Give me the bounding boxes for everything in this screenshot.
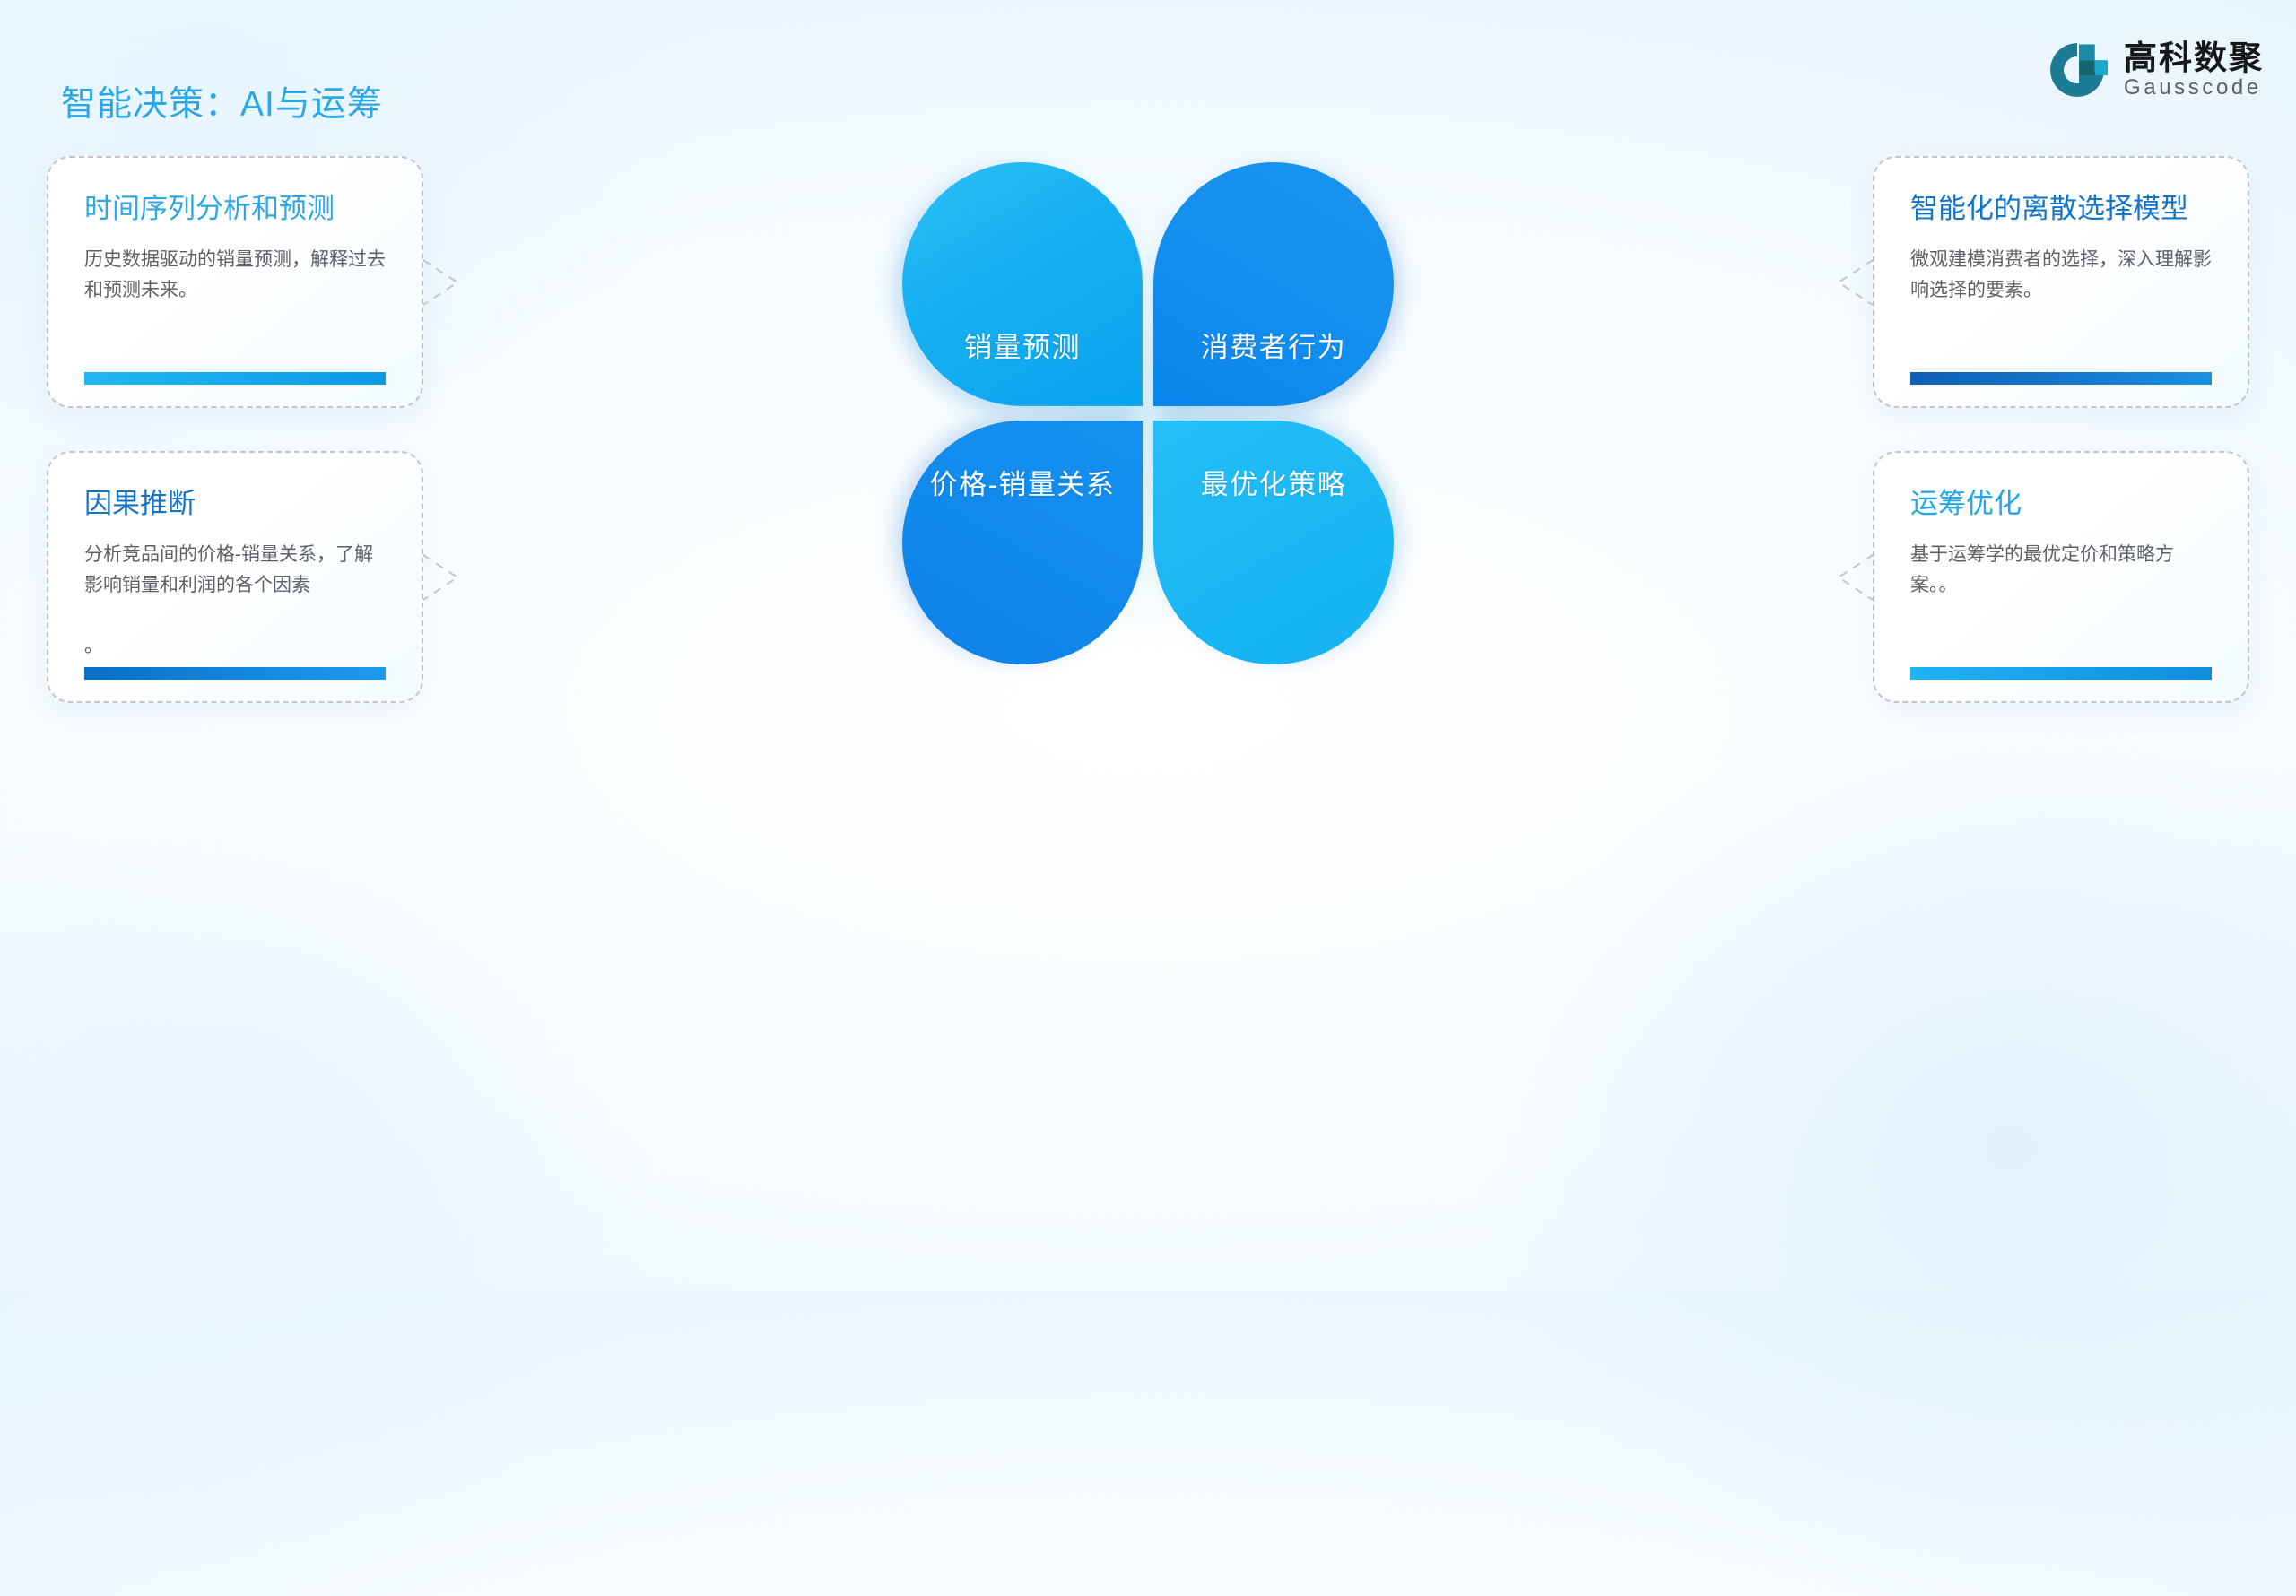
gausscode-g-logo-icon (2047, 39, 2108, 100)
logo-text-en: Gausscode (2124, 77, 2264, 99)
petal-consumer-behavior[interactable]: 消费者行为 (1153, 162, 1394, 406)
brand-logo: 高科数聚 Gausscode (2047, 39, 2264, 100)
flower-glow (834, 91, 1462, 736)
connector-chevron-card4-icon (1839, 555, 1873, 600)
petal-label: 销量预测 (902, 325, 1143, 365)
logo-text-cn: 高科数聚 (2124, 41, 2264, 76)
card-title: 智能化的离散选择模型 (1910, 192, 2188, 225)
background-glow-bottom-left (0, 789, 664, 1578)
card-accent-bar (1910, 372, 2212, 385)
card-time-series[interactable]: 时间序列分析和预测 历史数据驱动的销量预测，解释过去和预测未来。 (47, 156, 423, 408)
card-surface: 时间序列分析和预测 历史数据驱动的销量预测，解释过去和预测未来。 (50, 160, 420, 404)
card-surface: 因果推断 分析竞品间的价格-销量关系，了解影响销量和利润的各个因素 。 (50, 455, 420, 699)
page-title: 智能决策：AI与运筹 (61, 87, 383, 122)
card-operations-optimization[interactable]: 运筹优化 基于运筹学的最优定价和策略方案。。 (1873, 451, 2249, 703)
connector-chevron-card1-icon (423, 260, 457, 305)
card-title: 因果推断 (84, 487, 196, 520)
petal-label: 最优化策略 (1153, 462, 1394, 502)
card-surface: 智能化的离散选择模型 微观建模消费者的选择，深入理解影响选择的要素。 (1876, 160, 2246, 404)
card-body: 微观建模消费者的选择，深入理解影响选择的要素。 (1910, 245, 2217, 306)
card-accent-bar (84, 667, 386, 680)
card-discrete-choice[interactable]: 智能化的离散选择模型 微观建模消费者的选择，深入理解影响选择的要素。 (1873, 156, 2249, 408)
card-title: 时间序列分析和预测 (84, 192, 335, 225)
connector-chevron-card2-icon (1839, 260, 1873, 305)
card-body: 分析竞品间的价格-销量关系，了解影响销量和利润的各个因素 。 (84, 540, 391, 662)
card-accent-bar (1910, 667, 2212, 680)
background-glow-bottom-right (1471, 699, 2296, 1596)
card-accent-bar (84, 372, 386, 385)
card-title: 运筹优化 (1910, 487, 2022, 520)
petal-price-volume[interactable]: 价格-销量关系 (902, 421, 1143, 664)
card-causal-inference[interactable]: 因果推断 分析竞品间的价格-销量关系，了解影响销量和利润的各个因素 。 (47, 451, 423, 703)
petal-sales-forecast[interactable]: 销量预测 (902, 162, 1143, 406)
card-body: 历史数据驱动的销量预测，解释过去和预测未来。 (84, 245, 391, 306)
flower-diagram: 销量预测 消费者行为 价格-销量关系 最优化策略 (902, 162, 1394, 664)
petal-optimal-strategy[interactable]: 最优化策略 (1153, 421, 1394, 664)
petal-label: 消费者行为 (1153, 325, 1394, 365)
connector-chevron-card3-icon (423, 555, 457, 600)
card-body: 基于运筹学的最优定价和策略方案。。 (1910, 540, 2217, 601)
card-surface: 运筹优化 基于运筹学的最优定价和策略方案。。 (1876, 455, 2246, 699)
petal-label: 价格-销量关系 (902, 462, 1143, 502)
